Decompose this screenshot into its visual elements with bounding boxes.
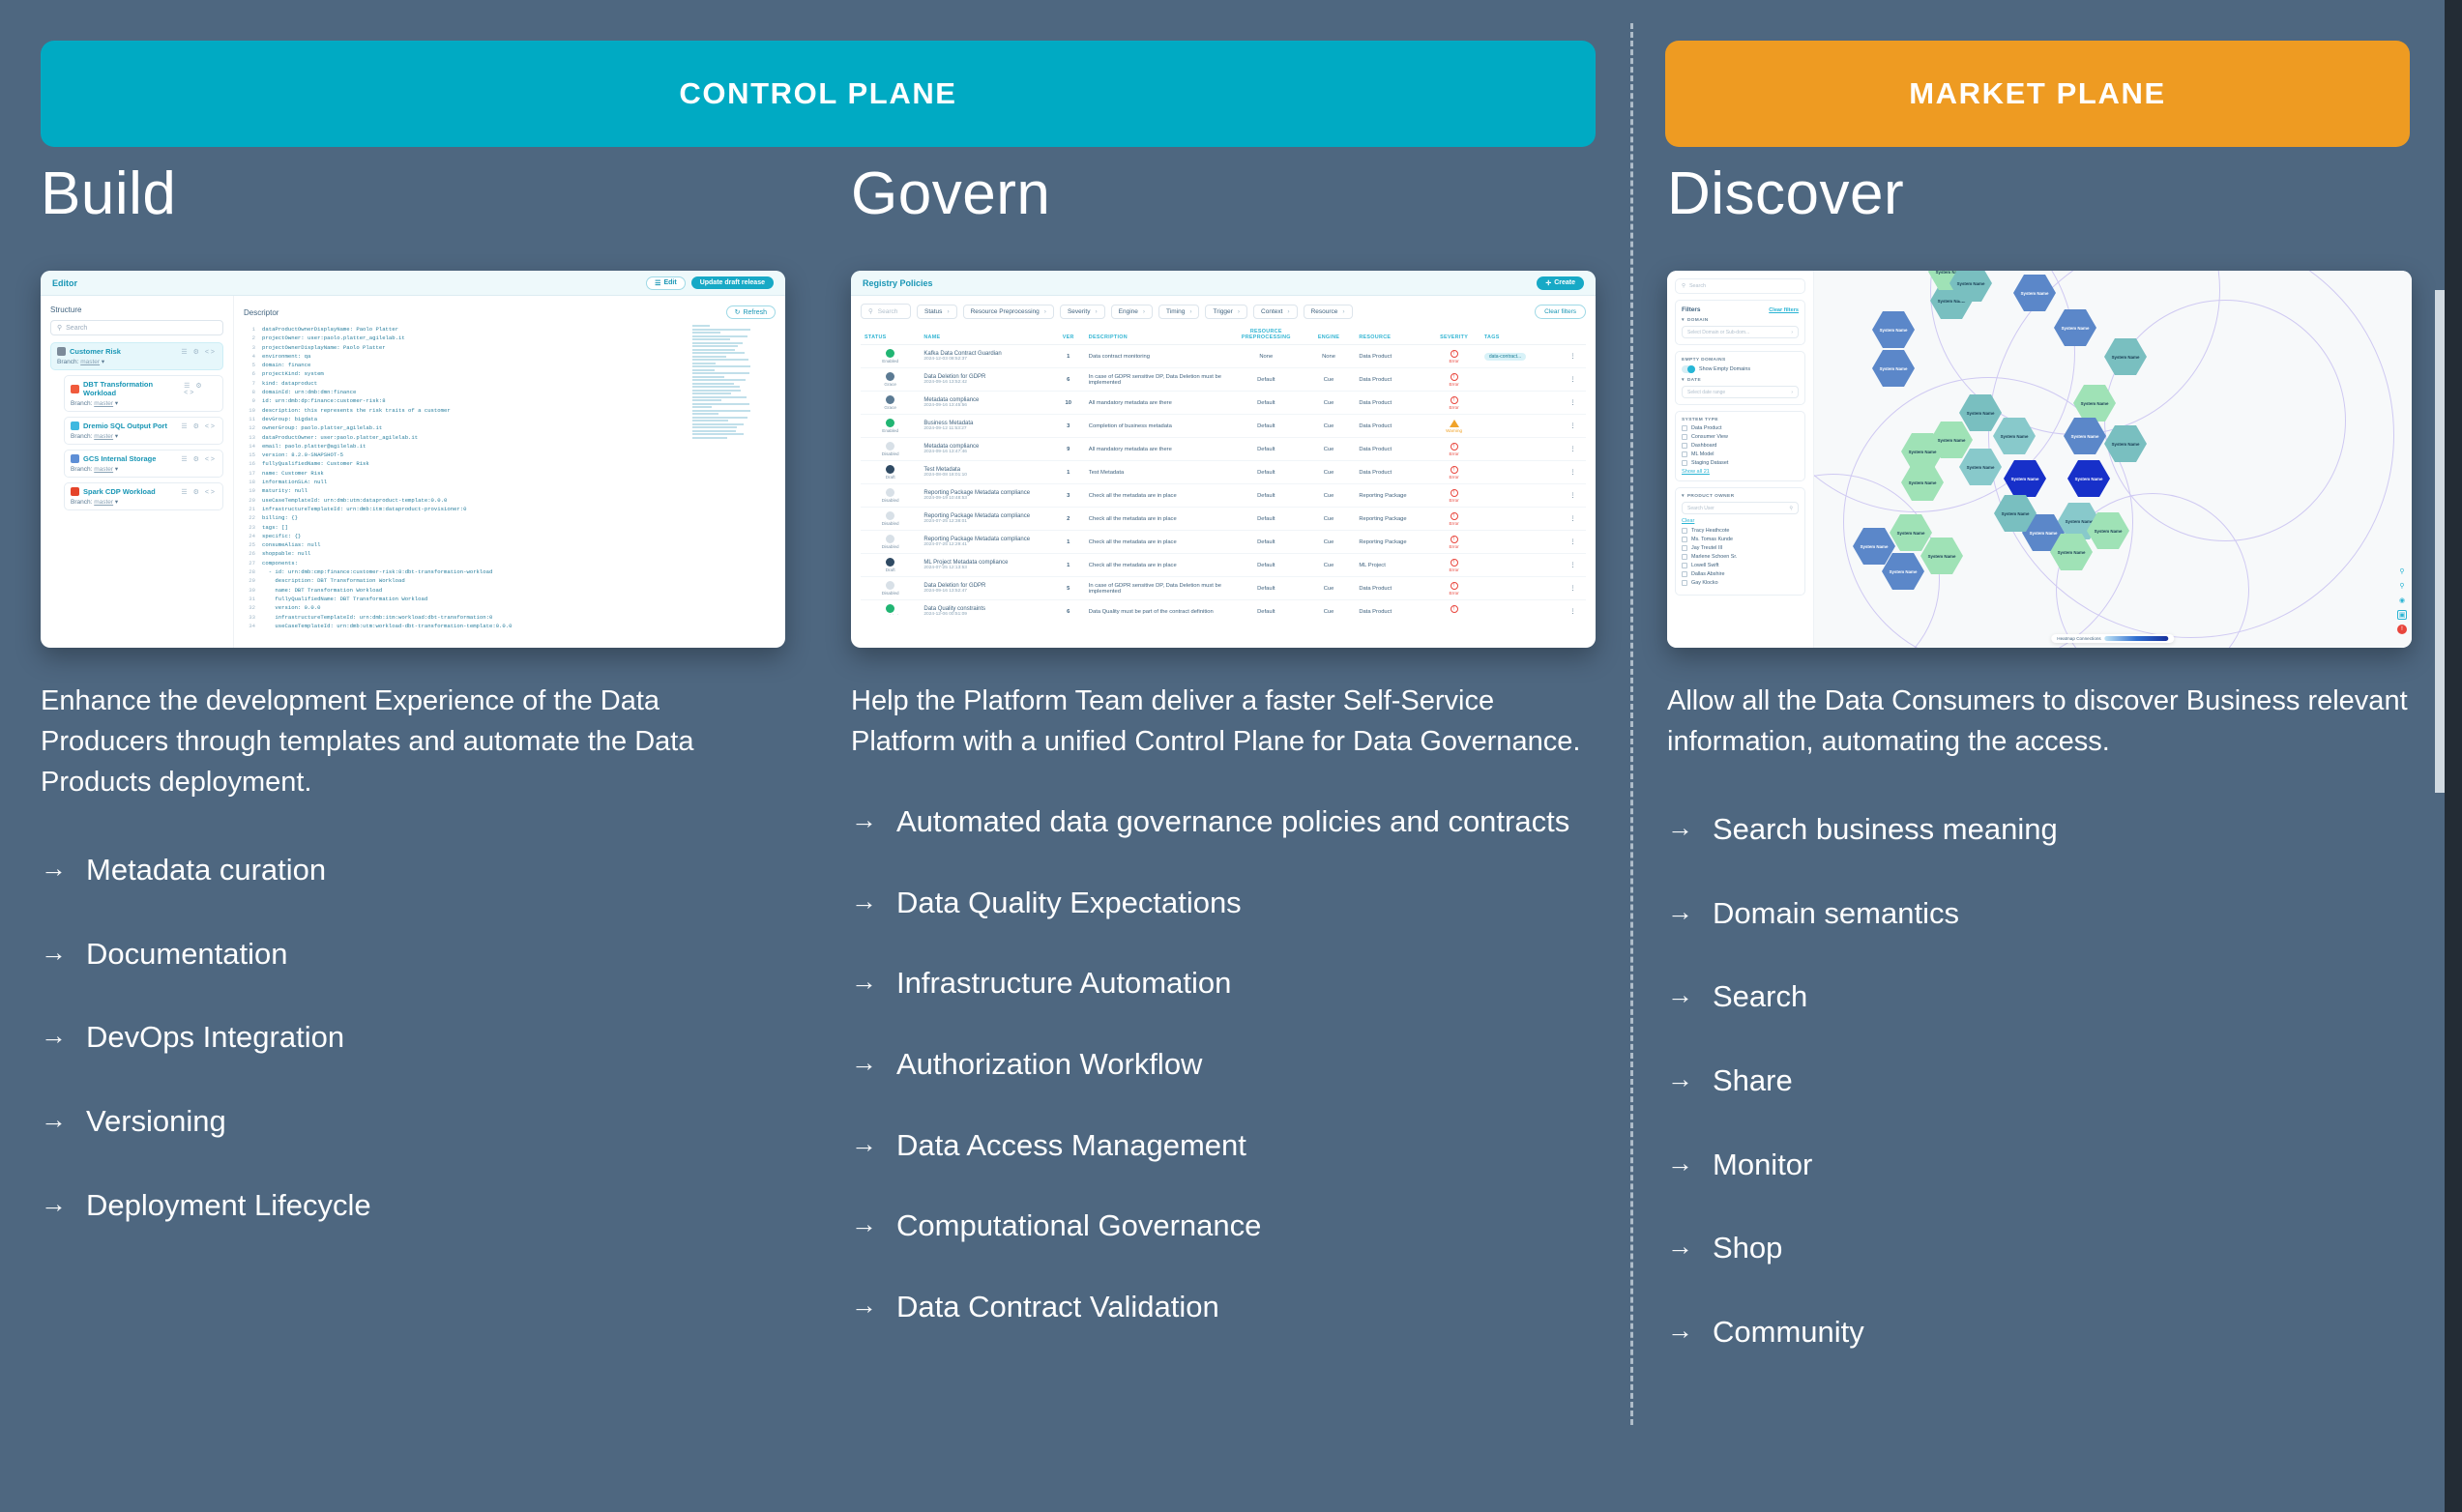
descriptor-label: Descriptor	[244, 308, 278, 317]
bullet-label: Shop	[1713, 1229, 1782, 1267]
arrow-right-icon: →	[851, 1045, 877, 1080]
policy-preprocessing: Default	[1230, 484, 1303, 508]
branch-label: Branch:	[57, 359, 78, 365]
policy-engine: Cue	[1303, 508, 1356, 531]
arrow-right-icon: →	[1667, 1229, 1693, 1264]
bullet-label: Documentation	[86, 935, 288, 974]
minimap-line	[692, 423, 744, 425]
option-label: Consumer View	[1691, 434, 1728, 440]
owner-options: Tracy HeathcoteMs. Tomas KundeJay Treute…	[1682, 528, 1799, 586]
severity-error: !Error	[1431, 443, 1477, 456]
column-build: Build Editor ☰ Edit Update draft release…	[41, 164, 785, 1270]
bullet-item: →Authorization Workflow	[851, 1045, 1596, 1084]
status-label: Disabled	[882, 498, 899, 503]
plane-banners: CONTROL PLANE MARKET PLANE	[0, 41, 2462, 147]
owner-option[interactable]: Dallas Abshire	[1682, 571, 1799, 577]
bullet-label: Computational Governance	[896, 1207, 1261, 1245]
table-row[interactable]: EnabledKafka Data Contract Guardian2024-…	[861, 345, 1586, 368]
arrow-right-icon: →	[851, 1207, 877, 1241]
slide-root: CONTROL PLANE MARKET PLANE Build Editor …	[0, 0, 2462, 1512]
minimap-line	[692, 420, 728, 422]
structure-search-input[interactable]: ⚲ Search	[50, 320, 223, 335]
filter-label: Timing	[1166, 308, 1185, 315]
checkbox-icon[interactable]	[1682, 537, 1687, 542]
checkbox-icon[interactable]	[1682, 443, 1687, 449]
filters-card: Filters Clear filters ▾ DOMAIN Select Do…	[1675, 300, 1805, 345]
checkbox-icon[interactable]	[1682, 571, 1687, 577]
system-type-option[interactable]: ML Model	[1682, 451, 1799, 457]
policy-version: 6	[1052, 368, 1085, 392]
filters-label: Filters	[1682, 306, 1701, 313]
system-type-option[interactable]: Dashboard	[1682, 443, 1799, 449]
status-icon	[886, 535, 894, 543]
heatmap-gradient	[2105, 636, 2169, 641]
status-icon	[886, 395, 894, 404]
error-circle-icon: !	[1451, 350, 1458, 358]
status-label: Enabled	[882, 359, 898, 363]
severity-error: !Error	[1431, 605, 1477, 616]
status-badge: Draft	[865, 558, 916, 572]
branch-label: Branch:	[71, 400, 92, 407]
marketplace-filter-sidebar: ⚲ Search Filters Clear filters ▾ DOMAIN	[1667, 271, 1814, 648]
policies-column-header: SEVERITY	[1427, 325, 1480, 345]
bullet-label: DevOps Integration	[86, 1018, 344, 1057]
system-type-option[interactable]: Staging Dataset	[1682, 460, 1799, 466]
policy-filter-button[interactable]: Status›	[917, 305, 957, 319]
plane-divider	[1630, 23, 1633, 1425]
refresh-label: Refresh	[743, 309, 767, 316]
row-menu-icon[interactable]: ⋮	[1560, 415, 1586, 438]
minimap-line	[692, 426, 737, 428]
arrow-right-icon: →	[851, 1126, 877, 1161]
status-label: Draft	[886, 475, 895, 480]
policy-filter-button[interactable]: Severity›	[1060, 305, 1105, 319]
empty-domains-label: EMPTY DOMAINS	[1682, 358, 1799, 363]
minimap-line	[692, 342, 743, 344]
policy-resource: Data Product	[1355, 600, 1427, 616]
clear-filters-button[interactable]: Clear filters	[1535, 305, 1586, 319]
bullet-item: →Share	[1667, 1061, 2412, 1100]
bullet-item: →DevOps Integration	[41, 1018, 785, 1057]
filters-header: Filters Clear filters	[1682, 306, 1799, 313]
filter-label: Resource Preprocessing	[971, 308, 1040, 315]
minimap-line	[692, 403, 749, 405]
policy-timestamp: 2024-09-16 13:52:42	[923, 380, 1047, 385]
market-plane-banner[interactable]: MARKET PLANE	[1665, 41, 2410, 147]
owner-option[interactable]: Marlene Schoen Sr.	[1682, 554, 1799, 560]
policy-description: Check all the metadata are in place	[1085, 531, 1230, 554]
row-menu-icon[interactable]: ⋮	[1560, 345, 1586, 368]
minimap-line	[692, 430, 736, 432]
search-icon: ⚲	[57, 324, 62, 332]
minimap-line	[692, 376, 724, 378]
policies-table-head: STATUSNAMEVERDESCRIPTIONRESOURCE PREPROC…	[861, 325, 1586, 345]
policy-filter-button[interactable]: Engine›	[1111, 305, 1153, 319]
checkbox-icon[interactable]	[1682, 425, 1687, 431]
policies-search-input[interactable]: ⚲ Search	[861, 304, 911, 319]
policies-toolbar: ⚲ Search Status›Resource Preprocessing›S…	[851, 296, 1596, 325]
policy-preprocessing: Default	[1230, 461, 1303, 484]
bullet-label: Data Quality Expectations	[896, 884, 1242, 922]
domain-filter-label: ▾ DOMAIN	[1682, 318, 1799, 323]
policy-filter-buttons: Status›Resource Preprocessing›Severity›E…	[917, 305, 1353, 319]
domain-graph-canvas[interactable]: System NameSystem NameSystem NameSystem …	[1814, 271, 2412, 648]
policies-column-header: VER	[1052, 325, 1085, 345]
table-row[interactable]: EnabledData Quality constraints2024-12-0…	[861, 600, 1586, 616]
policy-engine: None	[1303, 345, 1356, 368]
policy-version: 3	[1052, 415, 1085, 438]
policy-engine: Cue	[1303, 600, 1356, 616]
error-circle-icon: !	[1451, 443, 1458, 451]
policy-description: Completion of business metadata	[1085, 415, 1230, 438]
arrow-right-icon: →	[1667, 894, 1693, 929]
severity-warning: Warning	[1431, 420, 1477, 433]
policy-filter-button[interactable]: Resource Preprocessing›	[963, 305, 1054, 319]
node-name: GCS Internal Storage	[83, 454, 156, 463]
policies-column-header: RESOURCE	[1355, 325, 1427, 345]
filter-label: Status	[924, 308, 942, 315]
node-name: Dremio SQL Output Port	[83, 422, 167, 430]
arrow-right-icon: →	[41, 851, 67, 886]
minimap-line	[692, 372, 749, 374]
bullet-label: Search	[1713, 977, 1807, 1016]
bullet-label: Monitor	[1713, 1146, 1812, 1184]
status-label: Enabled	[882, 428, 898, 433]
show-empty-domains-toggle[interactable]: Show Empty Domains	[1682, 365, 1799, 373]
minimap-line	[692, 345, 738, 347]
checkbox-icon[interactable]	[1682, 545, 1687, 551]
bullet-label: Deployment Lifecycle	[86, 1186, 371, 1225]
column-discover: Discover ⚲ Search Filters Clear filters	[1667, 164, 2412, 1397]
chevron-right-icon: ›	[947, 308, 949, 315]
domain-label-text: DOMAIN	[1687, 318, 1709, 323]
owner-option[interactable]: Ms. Tomas Kunde	[1682, 537, 1799, 542]
marketplace-search-input[interactable]: ⚲ Search	[1675, 278, 1805, 294]
option-label: Dallas Abshire	[1691, 571, 1724, 577]
alert-icon[interactable]: !	[2397, 625, 2407, 634]
checkbox-icon[interactable]	[1682, 580, 1687, 586]
row-menu-icon[interactable]: ⋮	[1560, 554, 1586, 577]
bullet-label: Authorization Workflow	[896, 1045, 1202, 1084]
row-menu-icon[interactable]: ⋮	[1560, 438, 1586, 461]
minimap-line	[692, 365, 750, 367]
policy-version: 9	[1052, 438, 1085, 461]
node-name: Customer Risk	[70, 347, 121, 356]
policy-resource: Data Product	[1355, 392, 1427, 415]
table-row[interactable]: DisabledReporting Package Metadata compl…	[861, 531, 1586, 554]
status-badge: Enabled	[865, 604, 916, 615]
checkbox-icon[interactable]	[1682, 563, 1687, 568]
node-type-icon	[71, 422, 79, 430]
target-icon[interactable]: ◉	[2397, 596, 2407, 605]
control-plane-banner[interactable]: CONTROL PLANE	[41, 41, 1596, 147]
minimap-line	[692, 396, 747, 398]
structure-node[interactable]: GCS Internal Storage☰ ⚙ <>Branch: master…	[64, 450, 223, 478]
arrow-right-icon: →	[1667, 1313, 1693, 1348]
policy-timestamp: 2024-07-25 12:29:41	[923, 542, 1047, 547]
arrow-right-icon: →	[851, 1288, 877, 1323]
policy-tags	[1480, 531, 1560, 554]
node-type-icon	[57, 347, 66, 356]
owner-option[interactable]: Gay Klocko	[1682, 580, 1799, 586]
severity-error: !Error	[1431, 350, 1477, 363]
descriptor-code[interactable]: 1dataProductOwnerDisplayName: Paolo Plat…	[244, 325, 776, 632]
policy-version: 6	[1052, 600, 1085, 616]
node-actions[interactable]: ☰ ⚙ <>	[181, 455, 217, 463]
table-row[interactable]: EnabledBusiness Metadata2024-09-12 11:53…	[861, 415, 1586, 438]
checkbox-icon[interactable]	[1682, 554, 1687, 560]
owner-option[interactable]: Tracy Heathcote	[1682, 528, 1799, 534]
node-actions[interactable]: ☰ ⚙ <>	[181, 348, 217, 356]
node-branch[interactable]: Branch: master ▾	[71, 432, 217, 440]
policy-timestamp: 2024-09-19 10:48:53	[923, 496, 1047, 501]
policy-description: Data Quality must be part of the contrac…	[1085, 600, 1230, 616]
policy-filter-button[interactable]: Trigger›	[1205, 305, 1247, 319]
node-actions[interactable]: ☰ ⚙ <>	[181, 422, 217, 430]
policy-tags	[1480, 392, 1560, 415]
policy-description: All mandatory metadata are there	[1085, 438, 1230, 461]
policy-tags	[1480, 508, 1560, 531]
status-icon	[886, 442, 894, 451]
date-range-select[interactable]: Select date range ›	[1682, 386, 1799, 398]
status-badge: Enabled	[865, 419, 916, 433]
column-title-govern: Govern	[851, 164, 1596, 224]
branch-label: Branch:	[71, 433, 92, 440]
system-type-option[interactable]: Consumer View	[1682, 434, 1799, 440]
row-menu-icon[interactable]: ⋮	[1560, 484, 1586, 508]
node-type-icon	[71, 487, 79, 496]
node-branch[interactable]: Branch: master ▾	[71, 498, 217, 506]
policy-version: 1	[1052, 531, 1085, 554]
policy-resource: ML Project	[1355, 554, 1427, 577]
table-row[interactable]: GraceData Deletion for GDPR2024-09-16 13…	[861, 368, 1586, 392]
option-label: ML Model	[1691, 451, 1714, 457]
policy-description: All mandatory metadata are there	[1085, 392, 1230, 415]
severity-error: !Error	[1431, 582, 1477, 596]
checkbox-icon[interactable]	[1682, 434, 1687, 440]
column-title-build: Build	[41, 164, 785, 224]
search-icon: ⚲	[1682, 283, 1685, 289]
table-row[interactable]: DisabledData Deletion for GDPR2024-09-16…	[861, 577, 1586, 600]
editor-body: Structure ⚲ Search Customer Risk☰ ⚙ <>Br…	[41, 296, 785, 648]
bullet-item: →Deployment Lifecycle	[41, 1186, 785, 1225]
minimap-line	[692, 390, 741, 392]
zoom-in-icon[interactable]: ⚲	[2397, 567, 2407, 576]
descriptor-pane: Descriptor ↻ Refresh 1dataProductOwnerDi…	[234, 296, 785, 648]
status-icon	[886, 419, 894, 427]
editor-header: Editor ☰ Edit Update draft release	[41, 271, 785, 296]
row-menu-icon[interactable]: ⋮	[1560, 392, 1586, 415]
system-type-option[interactable]: Data Product	[1682, 425, 1799, 431]
zoom-out-icon[interactable]: ⚲	[2397, 581, 2407, 591]
status-badge: Disabled	[865, 511, 916, 526]
policies-column-header: NAME	[920, 325, 1051, 345]
plus-icon: ✛	[1545, 279, 1551, 287]
node-type-icon	[71, 385, 79, 393]
node-actions[interactable]: ☰ ⚙ <>	[184, 382, 217, 396]
node-type-icon	[71, 454, 79, 463]
chevron-down-icon: ▾	[1682, 378, 1685, 383]
editor-title: Editor	[52, 278, 77, 288]
row-menu-icon[interactable]: ⋮	[1560, 600, 1586, 616]
clear-filters-button[interactable]: Clear filters	[1769, 307, 1799, 313]
code-minimap[interactable]	[692, 325, 750, 632]
policies-title: Registry Policies	[863, 278, 933, 288]
status-label: Disabled	[882, 591, 899, 596]
policy-tags	[1480, 554, 1560, 577]
policy-filter-button[interactable]: Timing›	[1158, 305, 1199, 319]
policy-preprocessing: Default	[1230, 415, 1303, 438]
update-draft-release-button[interactable]: Update draft release	[691, 276, 774, 289]
policy-filter-button[interactable]: Context›	[1253, 305, 1298, 319]
policy-version: 10	[1052, 392, 1085, 415]
clear-owner-link[interactable]: Clear	[1682, 518, 1799, 524]
chevron-right-icon: ›	[1238, 308, 1240, 315]
policy-engine: Cue	[1303, 438, 1356, 461]
status-label: Grace	[884, 382, 896, 387]
error-circle-icon: !	[1451, 373, 1458, 381]
status-icon	[886, 349, 894, 358]
marketplace-body: ⚲ Search Filters Clear filters ▾ DOMAIN	[1667, 271, 2412, 648]
policy-filter-button[interactable]: Resource›	[1304, 305, 1353, 319]
minimap-line	[692, 335, 747, 337]
policies-screenshot[interactable]: Registry Policies ✛ Create ⚲ Search Stat…	[851, 271, 1596, 648]
table-row[interactable]: DraftML Project Metadata compliance2024-…	[861, 554, 1586, 577]
arrow-right-icon: →	[851, 964, 877, 999]
policy-preprocessing: Default	[1230, 531, 1303, 554]
list-icon: ☰	[655, 279, 660, 287]
policy-resource: Data Product	[1355, 461, 1427, 484]
table-row[interactable]: DisabledMetadata compliance2024-09-16 13…	[861, 438, 1586, 461]
policy-resource: Data Product	[1355, 345, 1427, 368]
search-icon: ⚲	[868, 307, 873, 315]
node-actions[interactable]: ☰ ⚙ <>	[181, 488, 217, 496]
policies-column-header: ENGINE	[1303, 325, 1356, 345]
market-plane-label: MARKET PLANE	[1909, 76, 2165, 111]
chevron-right-icon: ›	[1342, 308, 1344, 315]
fit-view-icon[interactable]: ▣	[2397, 610, 2407, 620]
structure-label: Structure	[50, 305, 223, 314]
checkbox-icon[interactable]	[1682, 460, 1687, 466]
policy-engine: Cue	[1303, 531, 1356, 554]
bullet-item: →Data Quality Expectations	[851, 884, 1596, 922]
node-branch[interactable]: Branch: master ▾	[71, 465, 217, 473]
row-menu-icon[interactable]: ⋮	[1560, 531, 1586, 554]
filter-label: Severity	[1068, 308, 1090, 315]
policy-description: Check all the metadata are in place	[1085, 508, 1230, 531]
policy-description: In case of GDPR sensitive DP, Data Delet…	[1085, 368, 1230, 392]
branch-value: master	[94, 433, 113, 440]
status-badge: Grace	[865, 395, 916, 410]
severity-error: !Error	[1431, 536, 1477, 549]
arrow-right-icon: →	[41, 1102, 67, 1137]
table-row[interactable]: DraftTest Metadata2024-08-08 18:01:101Te…	[861, 461, 1586, 484]
warning-triangle-icon	[1450, 420, 1459, 427]
policy-preprocessing: None	[1230, 345, 1303, 368]
structure-node[interactable]: DBT Transformation Workload☰ ⚙ <>Branch:…	[64, 375, 223, 412]
structure-node[interactable]: Customer Risk☰ ⚙ <>Branch: master ▾	[50, 342, 223, 370]
arrow-right-icon: →	[41, 1018, 67, 1053]
severity-error: !Error	[1431, 559, 1477, 572]
row-menu-icon[interactable]: ⋮	[1560, 508, 1586, 531]
minimap-line	[692, 417, 747, 419]
policy-preprocessing: Default	[1230, 368, 1303, 392]
row-menu-icon[interactable]: ⋮	[1560, 577, 1586, 600]
owner-search-input[interactable]: Search User ⚲	[1682, 502, 1799, 514]
bullet-item: →Automated data governance policies and …	[851, 802, 1596, 841]
policies-search-placeholder: Search	[878, 308, 898, 315]
editor-screenshot[interactable]: Editor ☰ Edit Update draft release Struc…	[41, 271, 785, 648]
arrow-right-icon: →	[1667, 1061, 1693, 1096]
error-circle-icon: !	[1451, 536, 1458, 543]
minimap-line	[692, 363, 716, 364]
refresh-button[interactable]: ↻ Refresh	[726, 305, 776, 319]
column-govern: Govern Registry Policies ✛ Create ⚲ Sear…	[851, 164, 1596, 1369]
policy-resource: Reporting Package	[1355, 484, 1427, 508]
option-label: Lowell Swift	[1691, 563, 1718, 568]
chevron-right-icon: ›	[1791, 330, 1793, 335]
status-icon	[886, 604, 894, 613]
owner-option[interactable]: Lowell Swift	[1682, 563, 1799, 568]
status-label: Draft	[886, 567, 895, 572]
table-row[interactable]: DisabledReporting Package Metadata compl…	[861, 484, 1586, 508]
policy-tags	[1480, 438, 1560, 461]
arrow-right-icon: →	[851, 884, 877, 918]
error-circle-icon: !	[1451, 582, 1458, 590]
option-label: Marlene Schoen Sr.	[1691, 554, 1737, 560]
policy-engine: Cue	[1303, 392, 1356, 415]
policies-header: Registry Policies ✛ Create	[851, 271, 1596, 296]
marketplace-screenshot[interactable]: ⚲ Search Filters Clear filters ▾ DOMAIN	[1667, 271, 2412, 648]
policy-description: In case of GDPR sensitive DP, Data Delet…	[1085, 577, 1230, 600]
show-all-link[interactable]: Show all 21	[1682, 469, 1799, 475]
severity-error: !Error	[1431, 396, 1477, 410]
branch-label: Branch:	[71, 499, 92, 506]
policy-engine: Cue	[1303, 368, 1356, 392]
bullet-label: Data Access Management	[896, 1126, 1246, 1165]
structure-node[interactable]: Spark CDP Workload☰ ⚙ <>Branch: master ▾	[64, 482, 223, 510]
create-policy-button[interactable]: ✛ Create	[1537, 276, 1584, 290]
policy-timestamp: 2024-12-06 00:51:09	[923, 612, 1047, 615]
row-menu-icon[interactable]: ⋮	[1560, 368, 1586, 392]
structure-node[interactable]: Dremio SQL Output Port☰ ⚙ <>Branch: mast…	[64, 417, 223, 445]
table-row[interactable]: DisabledReporting Package Metadata compl…	[861, 508, 1586, 531]
option-label: Gay Klocko	[1691, 580, 1718, 586]
row-menu-icon[interactable]: ⋮	[1560, 461, 1586, 484]
node-branch[interactable]: Branch: master ▾	[57, 358, 217, 365]
heatmap-connections-legend[interactable]: Heatmap Connections	[2051, 634, 2174, 643]
status-badge: Disabled	[865, 442, 916, 456]
structure-search-placeholder: Search	[66, 325, 87, 332]
owner-option[interactable]: Jay Treutel III	[1682, 545, 1799, 551]
lead-govern: Help the Platform Team deliver a faster …	[851, 681, 1596, 762]
chevron-right-icon: ›	[1189, 308, 1191, 315]
checkbox-icon[interactable]	[1682, 451, 1687, 457]
arrow-right-icon: →	[1667, 977, 1693, 1012]
status-badge: Enabled	[865, 349, 916, 363]
bullet-label: Data Contract Validation	[896, 1288, 1219, 1326]
chevron-right-icon: ›	[1044, 308, 1046, 315]
table-row[interactable]: GraceMetadata compliance2024-09-16 13:45…	[861, 392, 1586, 415]
editor-edit-button[interactable]: ☰ Edit	[646, 276, 686, 290]
node-branch[interactable]: Branch: master ▾	[71, 399, 217, 407]
domain-select[interactable]: Select Domain or Sub-dom... ›	[1682, 326, 1799, 338]
severity-error: !Error	[1431, 512, 1477, 526]
bullet-item: →Metadata curation	[41, 851, 785, 889]
checkbox-icon[interactable]	[1682, 528, 1687, 534]
policy-timestamp: 2024-07-25 12:38:01	[923, 519, 1047, 524]
policies-column-header: DESCRIPTION	[1085, 325, 1230, 345]
